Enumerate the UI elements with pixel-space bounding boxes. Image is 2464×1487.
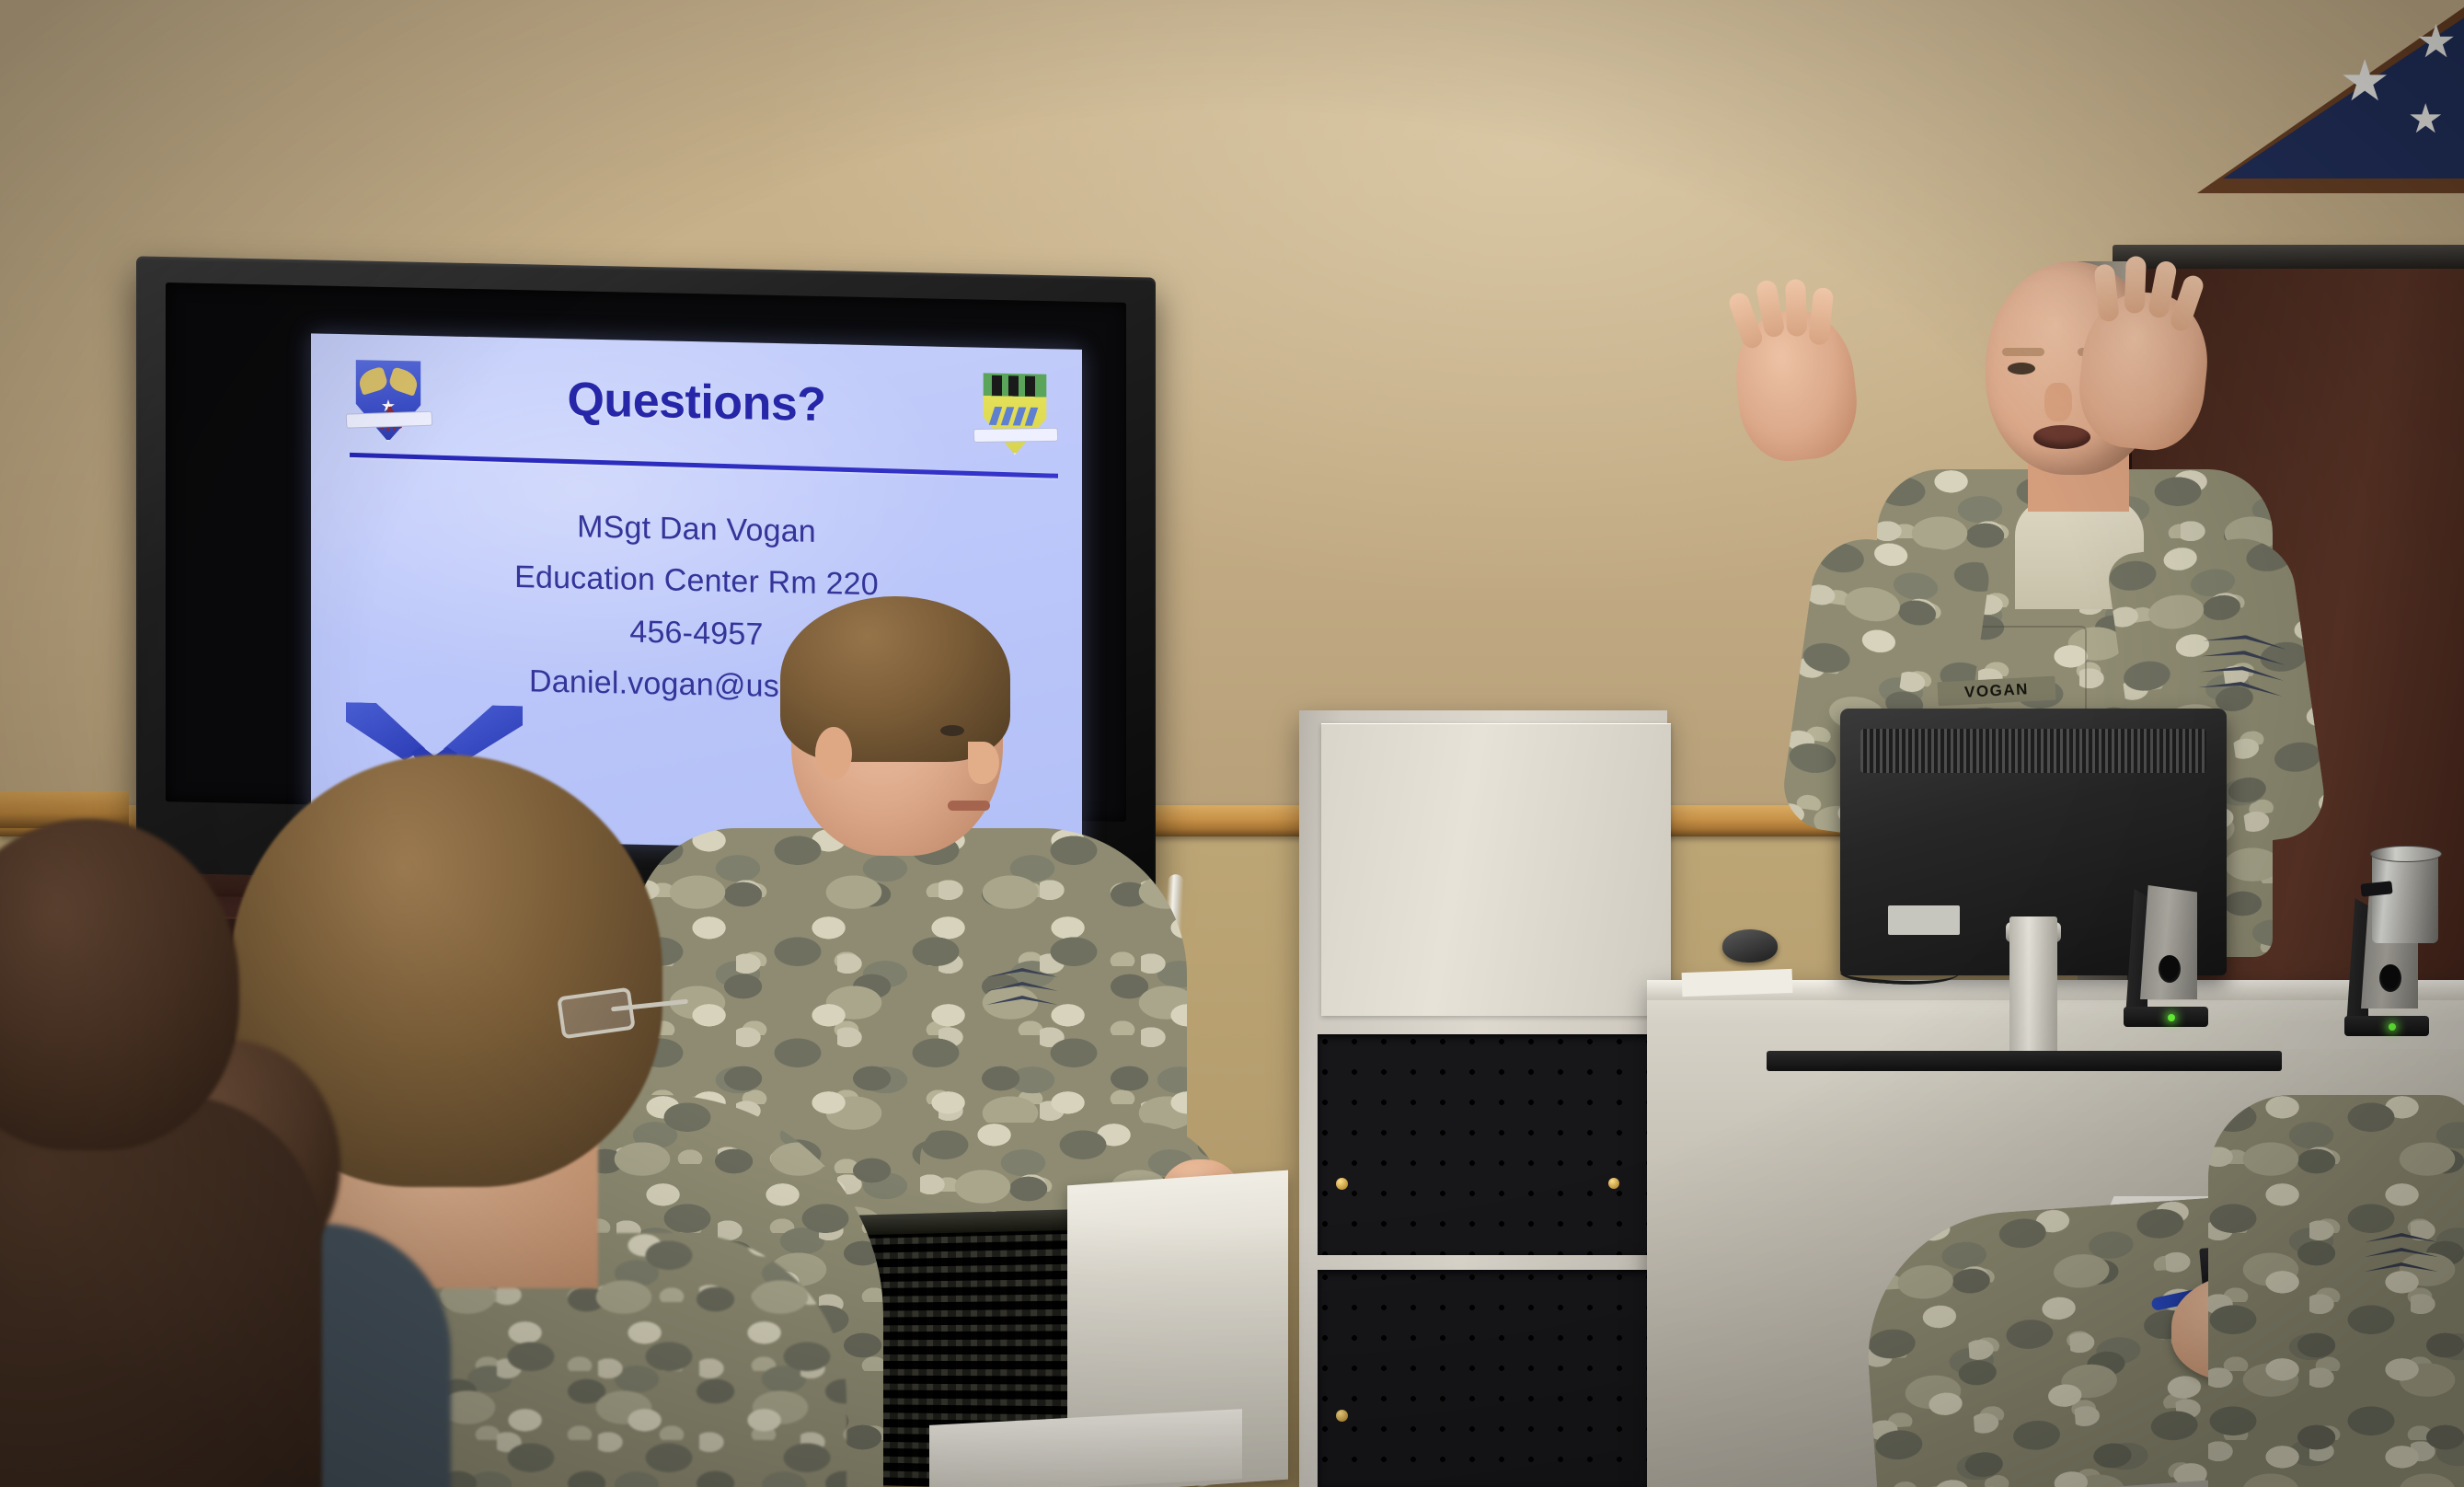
cabinet-lock-icon[interactable] xyxy=(1336,1410,1348,1422)
slide-title: Questions? xyxy=(311,366,1082,438)
speaker-base xyxy=(2124,1007,2208,1027)
airman-hair xyxy=(780,596,1010,762)
desk-paper xyxy=(1682,969,1793,997)
equipment-cabinet xyxy=(1299,710,1667,1487)
briefing-room-photo: ★ ★ ★ ★ xyxy=(0,0,2464,1487)
speaker-base xyxy=(2344,1016,2429,1036)
speaker-power-led-icon xyxy=(2168,1014,2175,1021)
eyeglasses xyxy=(559,992,679,1029)
cabinet-perforated-panel xyxy=(1318,1270,1667,1487)
travel-mug xyxy=(2372,851,2438,943)
finger xyxy=(1785,279,1807,337)
presenter-nose xyxy=(2044,383,2072,421)
finger xyxy=(2124,256,2147,314)
monitor-stand-arm xyxy=(2009,916,2057,1055)
monitor-vent-grille xyxy=(1860,729,2206,773)
airman-mouth xyxy=(948,801,990,811)
rank-insignia-ssgt xyxy=(986,968,1058,1040)
presenter-mouth xyxy=(2033,425,2090,449)
monitor-spec-label xyxy=(1888,905,1960,935)
presenter-left-hand xyxy=(1730,305,1862,466)
airman-nose xyxy=(968,742,999,784)
folded-flag-display-case: ★ ★ ★ xyxy=(2160,0,2464,193)
flag-star-icon: ★ xyxy=(2408,99,2444,140)
flag-star-icon: ★ xyxy=(2339,53,2390,110)
speaker-cone-icon xyxy=(2159,955,2181,983)
presenter-eyebrow xyxy=(2002,348,2044,356)
computer-mouse[interactable] xyxy=(1722,929,1778,963)
cabinet-lock-icon[interactable] xyxy=(1336,1178,1348,1190)
audience-member-foreground-left xyxy=(0,819,285,1487)
audience-body xyxy=(0,1095,322,1487)
airman-eye xyxy=(940,725,964,736)
speaker-power-led-icon xyxy=(2389,1023,2396,1031)
cabinet-perforated-panel xyxy=(1318,1034,1667,1255)
monitor-base-bar xyxy=(1767,1051,2282,1071)
airman-ear xyxy=(815,727,852,780)
mug-handle xyxy=(2360,881,2392,896)
desktop-speaker-left xyxy=(2135,885,2203,1023)
slide-title-divider xyxy=(350,453,1058,478)
mug-rim xyxy=(2370,846,2442,862)
cabinet-lock-icon[interactable] xyxy=(1608,1178,1619,1189)
finger xyxy=(1808,287,1834,346)
flag-star-icon: ★ xyxy=(2415,18,2457,64)
audience-member-right-b xyxy=(2208,1095,2464,1487)
audience-head xyxy=(0,819,239,1150)
rank-insignia-sra xyxy=(2365,1233,2438,1312)
speaker-cone-icon xyxy=(2379,964,2401,992)
presenter-eye xyxy=(2008,363,2035,375)
cabinet-top-panel xyxy=(1321,723,1671,1016)
